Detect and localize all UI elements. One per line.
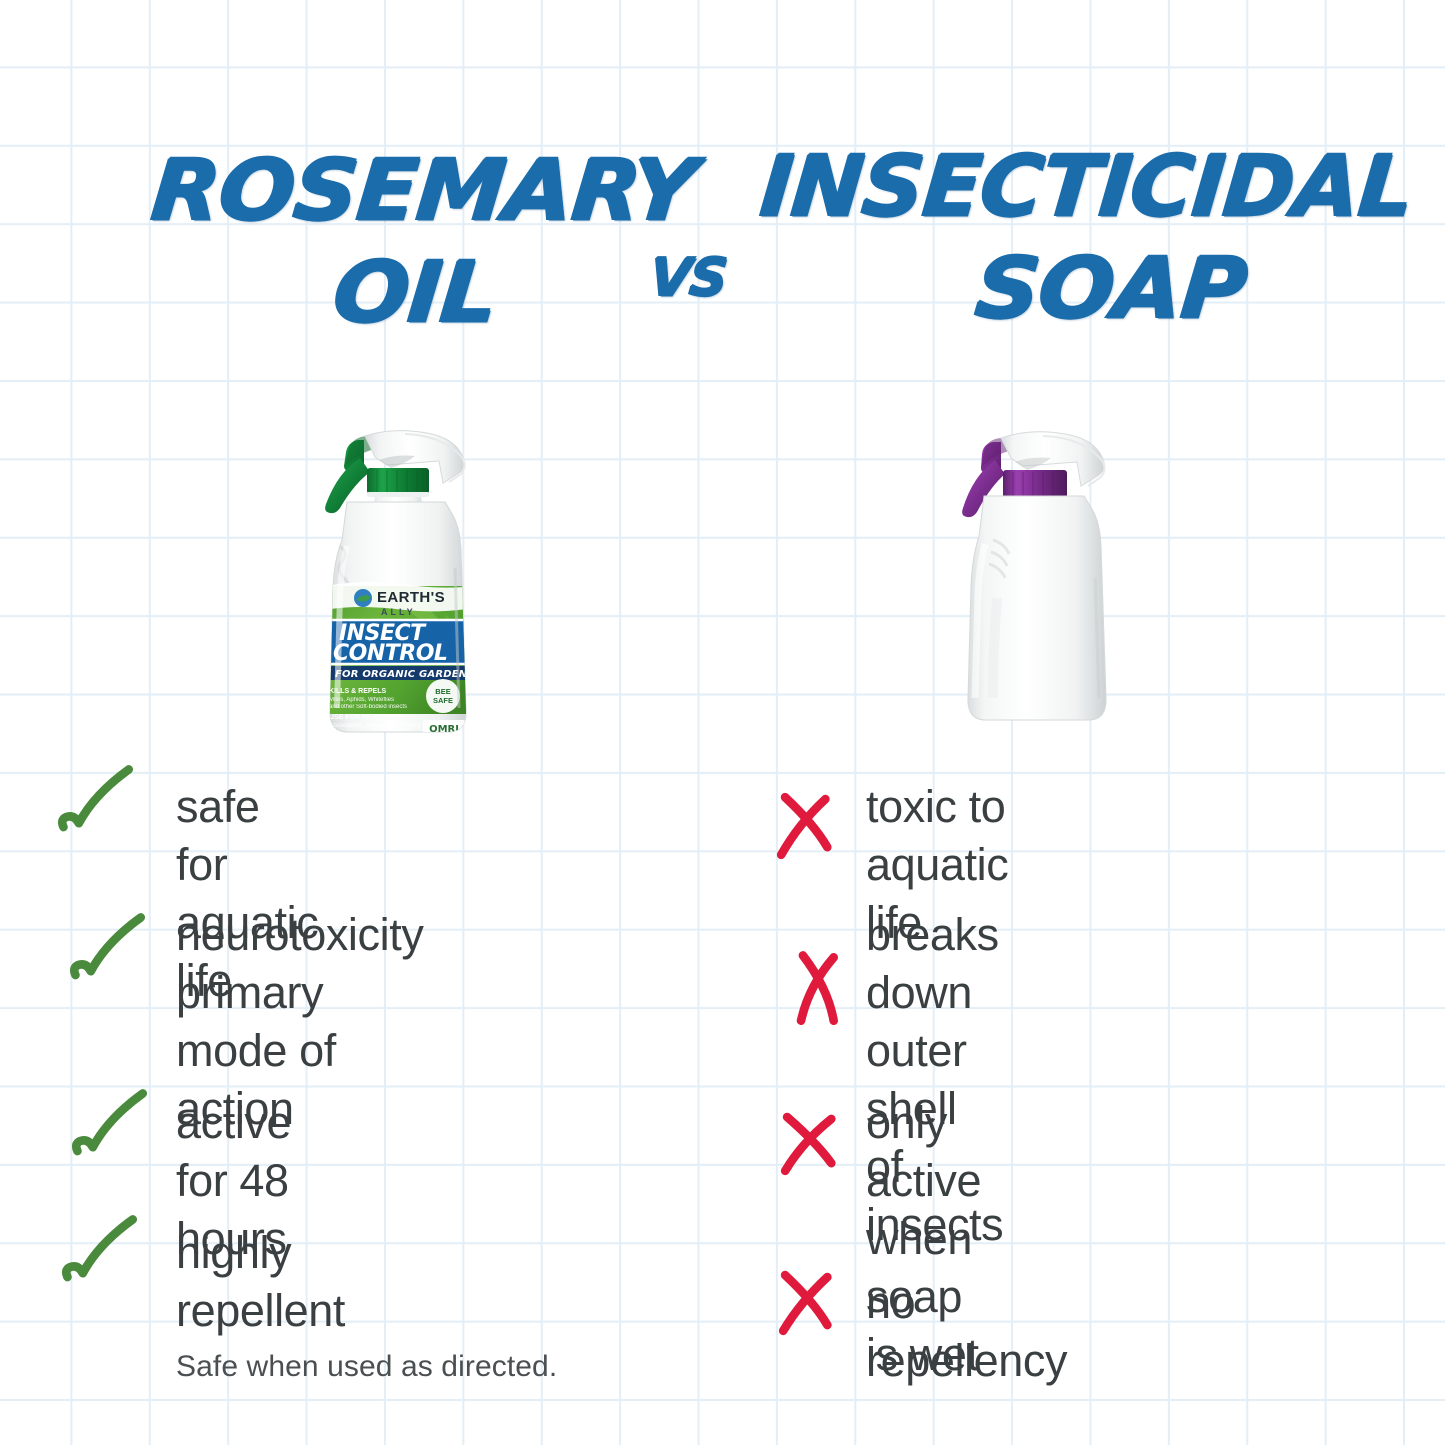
bullet1-body-b: and other Soft-bodied insects [329,704,407,710]
rosemary-oil-bottle-graphic: EARTH'S ALLY INSECT CONTROL FOR ORGANIC … [295,418,515,768]
check-icon [50,756,146,852]
product-image-row: EARTH'S ALLY INSECT CONTROL FOR ORGANIC … [0,418,1445,768]
title-versus: VS [648,252,728,304]
net-contents: Net Contents 24 fl. oz. [407,754,467,760]
product-name-line2: CONTROL [333,641,447,666]
cross-icon [778,942,874,1038]
omri-listed-badge: OMRI LISTED [423,720,465,744]
insecticidal-soap-bottle-image [935,418,1155,768]
caution-heading: CAUTION [407,763,444,768]
title-left-line2: OIL [330,250,500,334]
check-icon [54,1206,150,1302]
title-left-line1: ROSEMARY [148,148,698,232]
bullet3-heading: HARVEST SAME DAY [329,734,401,741]
brand-name-line1: EARTH'S [377,589,445,606]
cross-icon [764,1254,860,1350]
list-item-label: no repellency [866,1274,1067,1390]
caution-body-a: Keep out [443,766,467,768]
footnote-text: Safe when used as directed. [176,1350,557,1384]
brand-name-line2: ALLY [381,607,416,617]
svg-text:LISTED: LISTED [433,736,455,742]
product-label: EARTH'S ALLY INSECT CONTROL FOR ORGANIC … [325,582,488,768]
rosemary-oil-bottle-image: EARTH'S ALLY INSECT CONTROL FOR ORGANIC … [295,418,515,768]
check-icon [62,904,158,1000]
comparison-column-insecticidal-soap: toxic to aquatic life breaks down outer … [748,772,1445,1332]
check-icon [64,1080,160,1176]
cross-icon [762,778,858,874]
cross-icon [766,1094,862,1190]
title-block: ROSEMARY OIL VS INSECTICIDAL SOAP [0,128,1445,358]
svg-text:OMRI: OMRI [429,724,459,735]
comparison-column-rosemary-oil: safe for aquatic life neurotoxicity prim… [36,772,736,1332]
title-right-line1: INSECTICIDAL [757,144,1416,228]
bee-safe-badge: BEE SAFE [426,679,460,713]
svg-text:SAFE: SAFE [433,696,453,705]
insecticidal-soap-bottle-graphic [935,418,1155,768]
list-item-label: highly repellent [176,1224,345,1340]
comparison-infographic: ROSEMARY OIL VS INSECTICIDAL SOAP [0,0,1445,1445]
title-right-line2: SOAP [972,246,1249,330]
bullet2-body: Houseplants, Vegetables, Flowers [329,723,420,729]
svg-text:BEE: BEE [435,687,450,696]
comparison-lists: safe for aquatic life neurotoxicity prim… [0,772,1445,1332]
bullet2-heading: USE FOR HEALTHIER [329,714,402,721]
